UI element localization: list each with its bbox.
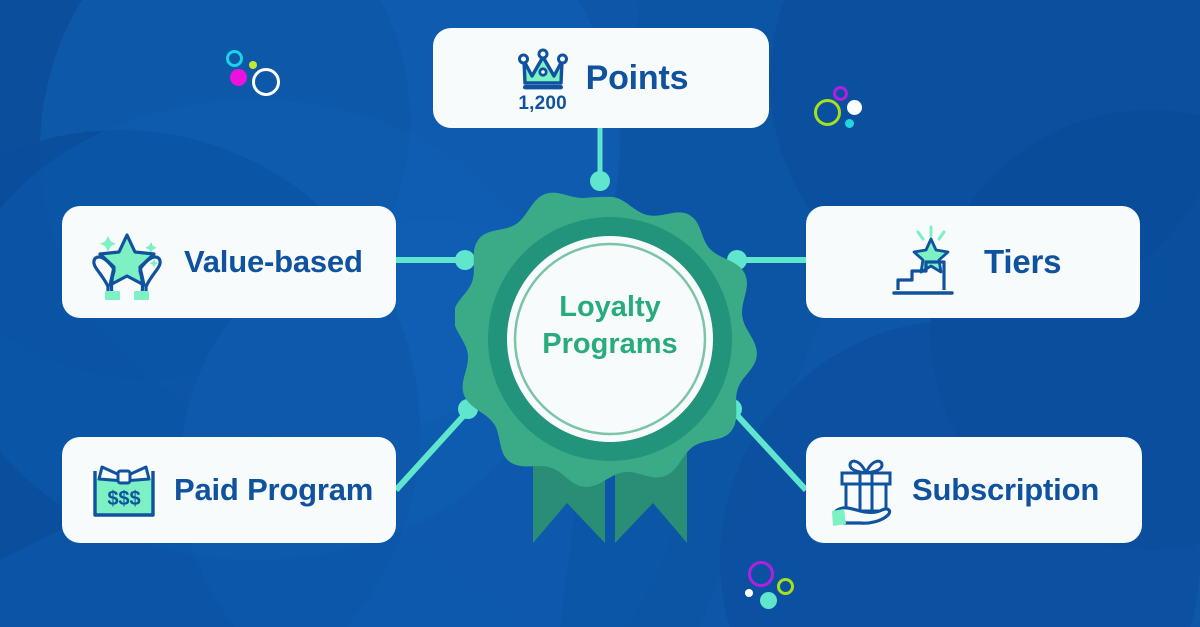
card-label-points: Points: [586, 59, 689, 98]
bubble-ring-lime: [814, 99, 841, 126]
crown-icon: [514, 43, 572, 93]
card-label-paid-program: Paid Program: [174, 472, 373, 508]
node-card-value-based[interactable]: Value-based: [62, 206, 396, 318]
bubble-dot-white-small: [745, 589, 753, 597]
bubble-dot-white: [847, 100, 862, 115]
node-card-tiers[interactable]: Tiers: [806, 206, 1140, 318]
badge-face: [507, 236, 713, 442]
card-label-subscription: Subscription: [912, 472, 1099, 508]
node-card-subscription[interactable]: Subscription: [806, 437, 1142, 543]
bubble-ring-cyan: [226, 50, 243, 67]
bubble-ring-lime-small: [777, 578, 794, 595]
center-badge: Loyalty Programs: [455, 185, 765, 545]
hands-holding-star-icon: [84, 223, 170, 301]
gift-card-dollars-icon: $$$: [86, 457, 162, 523]
paid-amount-text: $$$: [107, 488, 140, 510]
bubble-dot-magenta: [230, 69, 247, 86]
points-icon-group: 1,200: [514, 43, 572, 113]
bubble-dot-lime: [249, 61, 257, 69]
bubble-ring-purple: [833, 86, 848, 101]
infographic-canvas: Loyalty Programs 1,200 Points: [0, 0, 1200, 627]
node-card-paid-program[interactable]: $$$ Paid Program: [62, 437, 396, 543]
node-card-points[interactable]: 1,200 Points: [433, 28, 769, 128]
badge-graphic: [455, 185, 765, 545]
bubble-dot-cyan: [845, 119, 854, 128]
bubble-dot-mint: [760, 592, 777, 609]
card-label-value-based: Value-based: [184, 244, 363, 280]
points-count-value: 1,200: [518, 94, 567, 113]
bubble-ring-purple-large: [748, 561, 774, 587]
bubble-ring-white: [252, 68, 280, 96]
stairs-with-star-icon: [892, 224, 968, 300]
hand-holding-gift-icon: [830, 453, 902, 527]
card-label-tiers: Tiers: [984, 243, 1061, 281]
